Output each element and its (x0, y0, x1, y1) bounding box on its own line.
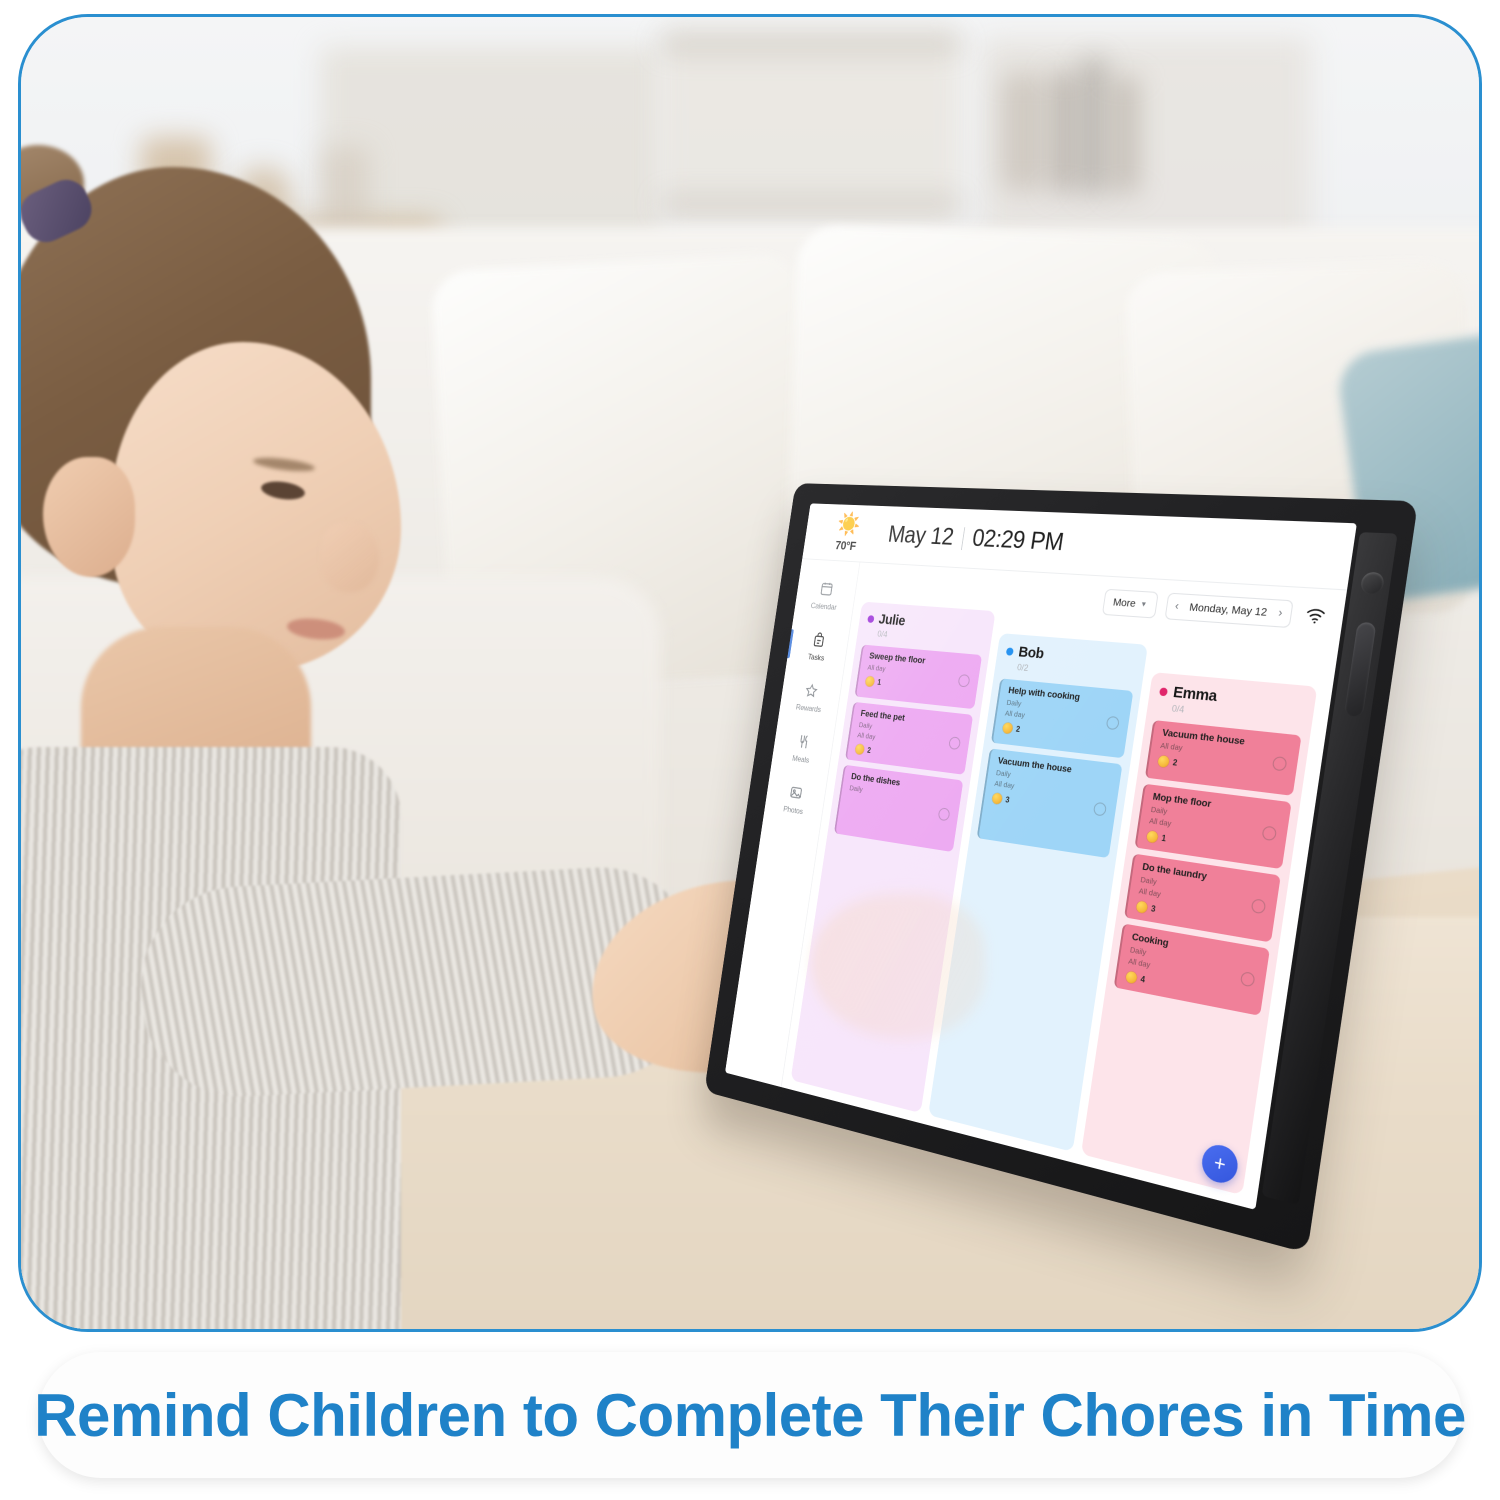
background-shelf-edge (661, 197, 961, 211)
date-label: May 12 (886, 521, 955, 551)
background-decor (1001, 72, 1045, 192)
tablet-bezel: ☀️ 70°F May 12 02:29 PM (704, 483, 1418, 1253)
promo-headline: Remind Children to Complete Their Chores… (34, 1381, 1466, 1450)
more-button[interactable]: More ▼ (1102, 589, 1159, 619)
family-hub-app: ☀️ 70°F May 12 02:29 PM (725, 503, 1357, 1209)
person-name: Julie (878, 611, 907, 629)
kanban-columns: Julie 0/4 Sweep the floor All day (791, 602, 1326, 1196)
datetime-separator (961, 527, 965, 550)
sidebar-label-rewards: Rewards (795, 702, 821, 714)
task-points: 3 (1150, 904, 1156, 914)
background-decor (1051, 72, 1077, 192)
more-label: More (1112, 596, 1136, 610)
column-header: Bob 0/2 (1002, 642, 1139, 683)
time-label: 02:29 PM (970, 525, 1065, 557)
task-cards: Sweep the floor All day 1 (834, 645, 982, 853)
coin-icon (1125, 971, 1137, 984)
sidebar-label-tasks: Tasks (807, 651, 825, 662)
person-name: Bob (1017, 644, 1045, 663)
temperature-label: 70°F (834, 538, 856, 553)
coin-icon (1157, 755, 1169, 768)
sidebar-label-photos: Photos (783, 803, 804, 815)
chevron-right-icon[interactable]: › (1275, 607, 1285, 620)
promo-banner: Remind Children to Complete Their Chores… (38, 1352, 1462, 1478)
ear (43, 457, 135, 577)
task-card[interactable]: Vacuum the house All day 2 (1145, 720, 1302, 796)
calendar-icon (818, 580, 834, 597)
task-points: 2 (1172, 758, 1178, 768)
task-points: 3 (1005, 795, 1010, 804)
wifi-icon[interactable] (1304, 607, 1327, 626)
coin-icon (1146, 830, 1158, 843)
chevron-left-icon[interactable]: ‹ (1172, 600, 1181, 613)
coin-icon (865, 676, 875, 687)
person-dot (1159, 687, 1168, 696)
product-photo-panel: ☀️ 70°F May 12 02:29 PM (18, 14, 1482, 1332)
task-points: 1 (877, 678, 882, 687)
task-card[interactable]: Do the dishes Daily (834, 765, 963, 852)
sidebar-label-meals: Meals (792, 753, 810, 764)
task-cards: Vacuum the house All day 2 (1114, 720, 1302, 1016)
task-cards: Help with cooking Daily All day 2 (977, 678, 1134, 858)
task-card[interactable]: Vacuum the house Daily All day 3 (977, 748, 1123, 858)
task-points: 2 (1015, 725, 1020, 734)
weather-widget[interactable]: ☀️ 70°F (819, 513, 877, 554)
sidebar-item-meals[interactable]: Meals (771, 719, 835, 777)
date-navigator[interactable]: ‹ Monday, May 12 › (1164, 593, 1293, 628)
sun-icon: ☀️ (836, 513, 862, 536)
coin-icon (992, 793, 1003, 805)
current-date-label: Monday, May 12 (1188, 601, 1267, 619)
chevron-down-icon: ▼ (1140, 601, 1148, 609)
sidebar-item-calendar[interactable]: Calendar (793, 568, 858, 623)
meals-icon (795, 732, 811, 750)
rewards-icon (803, 681, 819, 699)
tablet-device: ☀️ 70°F May 12 02:29 PM (684, 487, 1364, 1167)
photos-icon (788, 783, 804, 801)
task-checkbox[interactable] (938, 807, 951, 821)
background-decor (1111, 77, 1139, 193)
sidebar-label-calendar: Calendar (810, 600, 837, 611)
nose (321, 522, 379, 592)
tablet-screen[interactable]: ☀️ 70°F May 12 02:29 PM (725, 503, 1357, 1209)
task-card[interactable]: Feed the pet Daily All day 2 (845, 702, 973, 775)
sidebar-item-rewards[interactable]: Rewards (778, 669, 843, 726)
task-card[interactable]: Help with cooking Daily All day 2 (991, 678, 1133, 758)
background-decor (1083, 59, 1105, 193)
column-header: Julie 0/4 (863, 610, 987, 647)
background-shelf-edge (661, 37, 961, 51)
task-points: 2 (867, 746, 872, 755)
task-board: More ▼ ‹ Monday, May 12 › (782, 562, 1347, 1209)
app-body: Calendar Tasks (725, 559, 1347, 1210)
child-photo (18, 127, 691, 1332)
sidebar-item-photos[interactable]: Photos (763, 770, 827, 829)
task-points: 1 (1161, 833, 1167, 843)
task-points: 4 (1140, 974, 1146, 984)
coin-icon (1002, 722, 1013, 734)
coin-icon (855, 744, 865, 755)
person-dot (867, 615, 874, 623)
tasks-icon (811, 631, 827, 649)
sidebar-item-tasks[interactable]: Tasks (786, 618, 851, 674)
person-name: Emma (1172, 684, 1218, 706)
column-header: Emma 0/4 (1155, 682, 1308, 727)
coin-icon (1136, 901, 1148, 914)
task-card[interactable]: Sweep the floor All day 1 (854, 645, 982, 710)
person-dot (1006, 647, 1014, 655)
datetime-display: May 12 02:29 PM (886, 521, 1065, 557)
